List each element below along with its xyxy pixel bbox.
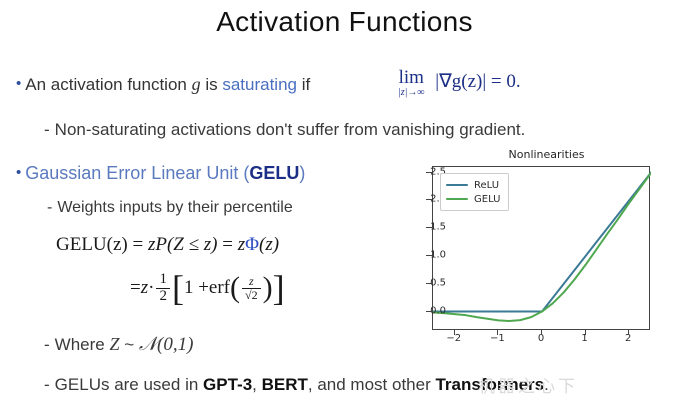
sub-bullet-non-saturating: -Non-saturating activations don't suffer… bbox=[44, 120, 525, 140]
nonlinearities-chart: Nonlinearities 0.00.51.01.52.02.5 −2−101… bbox=[404, 148, 689, 353]
gelu-acronym: GELU bbox=[249, 163, 299, 183]
gelus-used-bert: BERT bbox=[262, 375, 308, 394]
chart-legend: ReLUGELU bbox=[440, 173, 509, 211]
gelus-used-gpt3: GPT-3 bbox=[203, 375, 252, 394]
where-z-tilde: ~ bbox=[119, 335, 138, 354]
sub-bullet-weights-inputs-text: Weights inputs by their percentile bbox=[57, 199, 292, 216]
right-bracket: ] bbox=[273, 274, 285, 303]
x-tick-mark bbox=[585, 330, 586, 335]
sub-bullet-gelus-used: -GELUs are used in GPT-3, BERT, and most… bbox=[44, 375, 549, 395]
left-paren: ( bbox=[230, 276, 240, 300]
dash-marker-icon: - bbox=[44, 335, 50, 354]
legend-item-relu[interactable]: ReLU bbox=[446, 178, 500, 192]
sub-bullet-where-z: -Where Z ~ 𝒩(0,1) bbox=[44, 334, 193, 356]
legend-swatch-icon bbox=[446, 184, 468, 186]
limit-word: lim bbox=[398, 68, 425, 87]
bullet-text-part-if: if bbox=[297, 75, 310, 94]
x-tick-mark bbox=[497, 330, 498, 335]
y-tick-mark bbox=[426, 172, 432, 173]
y-tick-label: 0.0 bbox=[430, 305, 446, 316]
slide-root: Activation Functions •An activation func… bbox=[0, 0, 689, 417]
page-title: Activation Functions bbox=[0, 6, 689, 38]
equation-rhs-arg: (z) bbox=[259, 234, 279, 255]
chart-title: Nonlinearities bbox=[404, 148, 689, 161]
limit-subscript: |z|→∞ bbox=[398, 88, 425, 98]
equation-eq-2: = bbox=[218, 234, 238, 255]
y-tick-mark bbox=[426, 311, 432, 312]
legend-label: ReLU bbox=[474, 180, 499, 191]
gelus-used-part-3: , and most other bbox=[308, 375, 436, 394]
gelu-equation-line-2: = z · 1 2 [ 1 + erf ( z √2 ) ] bbox=[130, 272, 285, 305]
gelus-used-part-2: , bbox=[252, 375, 261, 394]
legend-label: GELU bbox=[474, 194, 500, 205]
bullet-text-part-1: An activation function bbox=[25, 75, 191, 94]
inner-fraction-denominator: √2 bbox=[242, 288, 261, 302]
watermark-text: 机器之心下 bbox=[478, 372, 578, 397]
gelu-equation-line-1: GELU(z) = zP(Z ≤ z) = zΦ(z) bbox=[56, 234, 279, 256]
fraction-one-half: 1 2 bbox=[156, 272, 170, 305]
gelus-used-part-1: GELUs are used in bbox=[55, 375, 203, 394]
equation2-eq: = bbox=[130, 277, 141, 299]
y-tick-mark bbox=[426, 255, 432, 256]
x-tick-mark bbox=[628, 330, 629, 335]
fraction-z-over-sqrt2: z √2 bbox=[242, 275, 261, 301]
where-z-variable: Z bbox=[109, 334, 119, 354]
bullet-text-part-g: g bbox=[192, 74, 201, 94]
dash-marker-icon: - bbox=[44, 120, 50, 139]
sub-bullet-weights-inputs: -Weights inputs by their percentile bbox=[47, 199, 293, 217]
fraction-numerator: 1 bbox=[156, 272, 170, 288]
legend-item-gelu[interactable]: GELU bbox=[446, 192, 500, 206]
bullet-marker-icon: • bbox=[16, 75, 21, 92]
bullet-text-saturating: saturating bbox=[222, 75, 297, 94]
bullet-gelu-heading: •Gaussian Error Linear Unit (GELU) bbox=[16, 163, 305, 184]
bullet-activation-definition: •An activation function g is saturating … bbox=[16, 74, 310, 95]
where-z-distribution: 𝒩(0,1) bbox=[139, 334, 194, 355]
gelu-heading-prefix: Gaussian Error Linear Unit ( bbox=[25, 163, 249, 183]
where-z-prefix: Where bbox=[55, 335, 110, 354]
equation2-erf: erf bbox=[209, 277, 230, 299]
equation-phi-symbol: Φ bbox=[245, 234, 259, 255]
sub-bullet-non-saturating-text: Non-saturating activations don't suffer … bbox=[55, 120, 526, 139]
right-paren: ) bbox=[263, 276, 273, 300]
equation-eq-1: = bbox=[128, 234, 148, 255]
y-tick-label: 0.5 bbox=[430, 277, 446, 288]
equation2-z: z bbox=[141, 277, 148, 299]
equation2-one-plus: 1 + bbox=[184, 277, 209, 299]
dash-marker-icon: - bbox=[44, 375, 50, 394]
y-tick-mark bbox=[426, 199, 432, 200]
y-tick-label: 1.0 bbox=[430, 249, 446, 260]
gelu-heading-suffix: ) bbox=[299, 163, 305, 183]
fraction-denominator: 2 bbox=[156, 288, 170, 305]
y-tick-mark bbox=[426, 283, 432, 284]
dash-marker-icon: - bbox=[47, 199, 52, 216]
limit-formula: lim |z|→∞ |∇g(z)| = 0. bbox=[398, 68, 521, 98]
y-tick-label: 1.5 bbox=[430, 222, 446, 233]
limit-expression: |∇g(z)| = 0. bbox=[435, 71, 520, 92]
inner-fraction-numerator: z bbox=[246, 275, 257, 288]
limit-operator: lim |z|→∞ bbox=[398, 68, 425, 98]
x-tick-mark bbox=[541, 330, 542, 335]
y-tick-mark bbox=[426, 227, 432, 228]
bullet-text-part-is: is bbox=[201, 75, 223, 94]
equation2-dot: · bbox=[148, 277, 154, 299]
left-bracket: [ bbox=[172, 274, 184, 303]
x-tick-mark bbox=[454, 330, 455, 335]
bullet-marker-icon: • bbox=[16, 164, 21, 181]
equation-lhs: GELU(z) bbox=[56, 234, 128, 255]
legend-swatch-icon bbox=[446, 198, 468, 200]
equation-mid: zP(Z ≤ z) bbox=[148, 234, 218, 255]
